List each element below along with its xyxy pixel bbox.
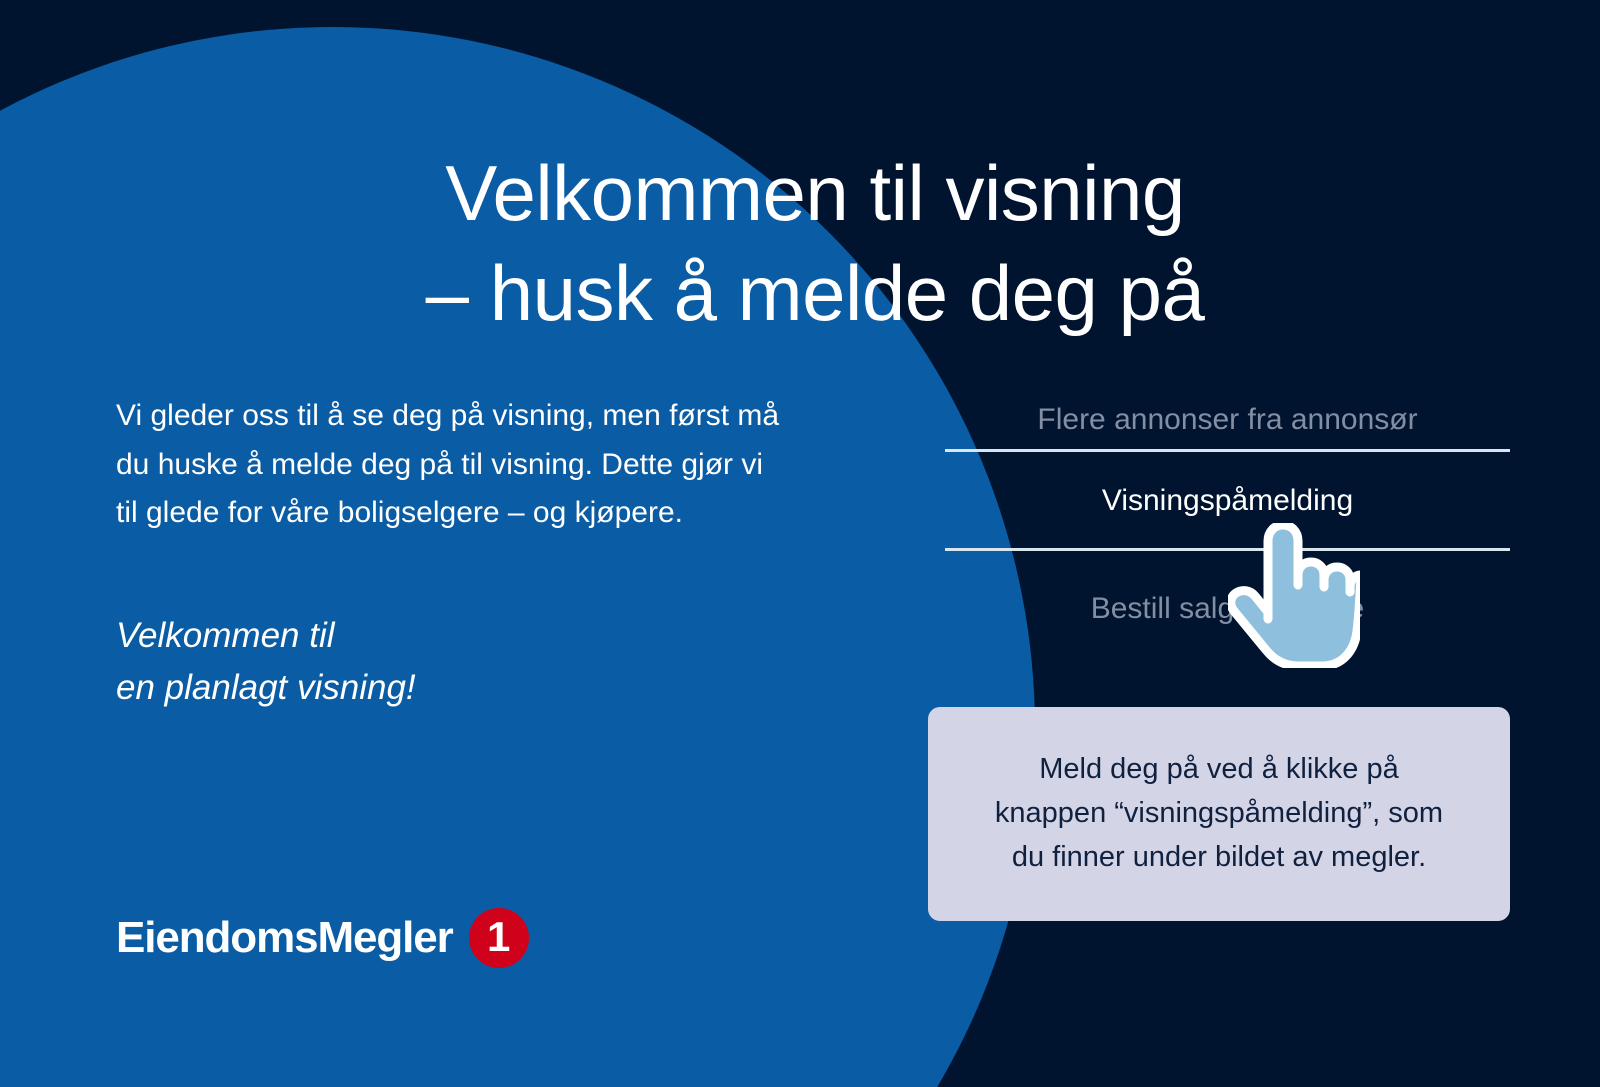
menu-item-flere-annonser[interactable]: Flere annonser fra annonsør (945, 392, 1510, 449)
menu-item-visningspamelding[interactable]: Visningspåmelding (945, 452, 1510, 549)
instruction-tooltip: Meld deg på ved å klikke på knappen “vis… (928, 707, 1510, 921)
property-action-menu: Flere annonser fra annonsør Visningspåme… (945, 392, 1510, 638)
menu-spacer (945, 551, 1510, 581)
tagline-text: Velkommen til en planlagt visning! (116, 610, 876, 715)
logo-badge-one: 1 (469, 908, 529, 968)
left-content-column: Vi gleder oss til å se deg på visning, m… (116, 392, 876, 750)
body-paragraph: Vi gleder oss til å se deg på visning, m… (116, 392, 876, 538)
visning-promo-slide: Velkommen til visning – husk å melde deg… (0, 0, 1600, 1087)
menu-item-bestill-salgsoppgave[interactable]: Bestill salgsoppgave (945, 581, 1510, 638)
eiendomsmegler1-logo: EiendomsMegler 1 (116, 908, 529, 968)
logo-wordmark: EiendomsMegler (116, 916, 453, 960)
page-title: Velkommen til visning – husk å melde deg… (0, 144, 1600, 344)
